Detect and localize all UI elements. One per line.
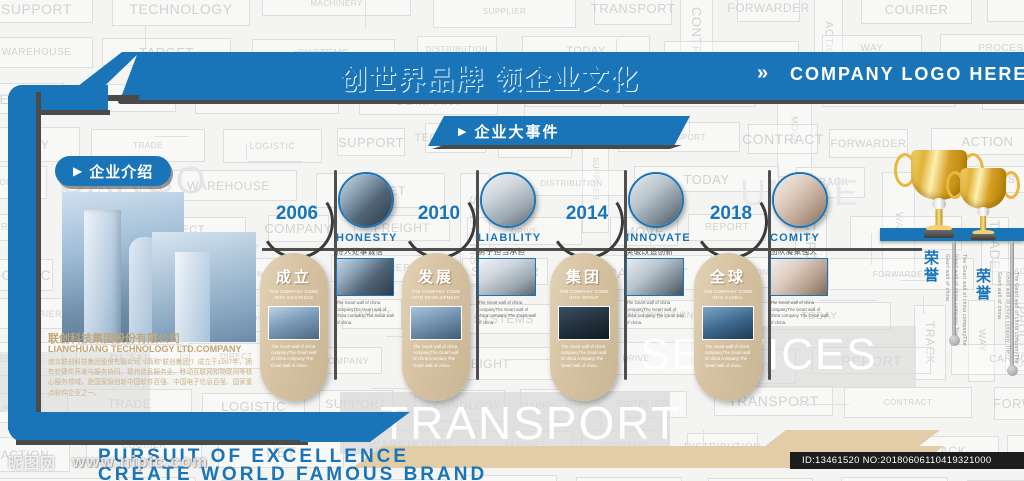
value-detail-block: The Geart wall of china companyThe Geart… [478, 258, 538, 327]
frame-bottom-left-sweep [8, 412, 308, 442]
value-title-cn: 待人处事诚信 [336, 246, 383, 257]
frame-left-arm-shadow [36, 92, 41, 430]
watermark-url: www.nipic.com [72, 452, 208, 472]
value-title-en: LIABILITY [478, 232, 541, 244]
honor-body: The Geart wall of china companyThe Geart… [990, 272, 1020, 368]
bg-connector-line [246, 143, 247, 159]
bg-word: TRANSPORT [594, 0, 672, 25]
milestone-capsule[interactable]: 成立 THE COMPANY COME INTO EXISTENCE The G… [260, 253, 328, 401]
year-label: 2006 [260, 203, 334, 225]
bg-connector-line [365, 1, 366, 28]
play-arrow-icon: ▶ [458, 125, 466, 138]
bg-connector-line [294, 51, 342, 52]
company-intro-paragraph: 南京联创科技集团股份有限公司（简称"联创集团"）成立于1997年，拥有软硬件开发… [48, 358, 254, 399]
value-detail-body: The Geart wall of china companyThe Geart… [478, 300, 538, 327]
value-detail-block: The Geart wall of china companyThe Geart… [336, 258, 396, 327]
building-photo-secondary [152, 232, 256, 342]
trophy-base [971, 234, 996, 241]
watermark-logo: 昵图网 [8, 452, 56, 473]
value-title-cn: 突破改造创新 [626, 246, 673, 257]
value-detail-body: The Geart wall of china companyThe Geart… [626, 300, 686, 327]
value-photo-circle [628, 172, 684, 228]
double-chevron-icon: » [757, 62, 765, 85]
value-title-cn: 勇于担当承担 [478, 246, 525, 257]
year-label: 2010 [402, 203, 476, 225]
bg-word: COURIER [861, 0, 972, 24]
bg-word: LOGISTIC [223, 129, 322, 163]
bg-word: TECHNOLOGY [112, 0, 250, 26]
value-title-cn: 团队凝聚强大 [770, 246, 817, 257]
bg-word: WAREHOUSE [0, 37, 93, 68]
milestone-capsule[interactable]: 集团 THE COMPANY COME INTO GROUP The Geart… [550, 253, 618, 401]
bg-connector-line [703, 430, 704, 447]
value-detail-body: The Geart wall of china companyThe Geart… [336, 300, 396, 327]
intro-badge-label: 企业介绍 [89, 161, 153, 182]
trophy-cup [960, 168, 1006, 209]
year-label: 2014 [550, 203, 624, 225]
value-detail-block: The Geart wall of china companyThe Geart… [770, 258, 830, 327]
intro-badge[interactable]: ▶ 企业介绍 [55, 156, 171, 186]
value-title-en: INNOVATE [626, 232, 691, 244]
bg-word: MACHINERY [262, 0, 411, 16]
bg-connector-line [689, 115, 690, 134]
bg-word: CONTRACT [844, 387, 972, 418]
bg-word: MOVE [841, 477, 948, 481]
value-photo-circle [772, 172, 828, 228]
capsule-title: 集团 [558, 266, 610, 287]
milestone-capsule[interactable]: 全球 THE COMPANY COME INTO GLOBAL The Gear… [694, 253, 762, 401]
value-photo-circle [338, 172, 394, 228]
frame-left-top-shadow [38, 110, 110, 115]
value-title-en: COMITY [770, 232, 820, 244]
capsule-subtitle: THE COMPANY COME INTO GROUP [558, 289, 610, 302]
bg-connector-line [155, 136, 189, 137]
bg-connector-line [145, 25, 146, 48]
capsule-photo [410, 306, 462, 340]
capsule-body: The Geart wall of china companyThe Geart… [702, 344, 754, 370]
value-detail-body: The Geart wall of china companyThe Geart… [770, 300, 830, 327]
company-name-en: LIANCHUANG TECHNOLOGY LTD.COMPANY [48, 344, 242, 354]
timeline-year-2010: 2010 [402, 185, 476, 259]
capsule-body: The Geart wall of china companyThe Geart… [558, 344, 610, 370]
capsule-subtitle: THE COMPANY COME INTO DEVELOPMENT [410, 289, 462, 302]
event-banner-label: 企业大事件 [474, 121, 559, 142]
bg-word: FREIGHT [576, 477, 682, 481]
value-detail-photo [626, 258, 684, 296]
culture-wall-canvas: SUPPORTTECHNOLOGYMACHINERYSUPPLIERTRANSP… [0, 0, 1024, 481]
bg-connector-line [923, 295, 924, 314]
capsule-title: 成立 [268, 266, 320, 287]
bg-word: FORWARDER [737, 0, 800, 22]
value-photo-circle [480, 172, 536, 228]
capsule-title: 全球 [702, 266, 754, 287]
trophy-icon [948, 168, 1019, 247]
capsule-subtitle: THE COMPANY COME INTO GLOBAL [702, 289, 754, 302]
capsule-subtitle: THE COMPANY COME INTO EXISTENCE [268, 289, 320, 302]
bg-word: SUPPORT [337, 128, 405, 156]
value-detail-photo [770, 258, 828, 296]
frame-left-arm [8, 85, 38, 430]
frame-bottom-left-sweep-shadow [16, 440, 308, 445]
play-arrow-icon: ▶ [73, 164, 82, 178]
timeline-year-2014: 2014 [550, 185, 624, 259]
bg-connector-line [247, 161, 302, 162]
company-logo-placeholder: COMPANY LOGO HERE [790, 64, 1024, 85]
timeline-year-2018: 2018 [694, 185, 768, 259]
trophy-knob [978, 207, 989, 217]
bg-bigword-transport: TRANSPORT [380, 396, 681, 450]
id-bar: ID:13461520 NO:20180606110419321000 [790, 452, 1024, 469]
bg-word: CONTRACT [748, 124, 818, 154]
capsule-photo [558, 306, 610, 340]
capsule-title: 发展 [410, 266, 462, 287]
value-detail-photo [336, 258, 394, 296]
bg-word: SUPPLIER [433, 0, 576, 28]
event-banner: ▶ 企业大事件 [428, 116, 690, 146]
bg-word: FORWARDER [994, 387, 1024, 420]
bg-connector-line [793, 404, 849, 405]
timeline-year-2006: 2006 [260, 185, 334, 259]
capsule-body: The Geart wall of china companyThe Geart… [410, 344, 462, 370]
milestone-capsule[interactable]: 发展 THE COMPANY COME INTO DEVELOPMENT The… [402, 253, 470, 401]
value-title-en: HONESTY [336, 232, 398, 244]
capsule-photo [702, 306, 754, 340]
bg-connector-line [372, 388, 407, 389]
capsule-body: The Geart wall of china companyThe Geart… [268, 344, 320, 370]
year-label: 2018 [694, 203, 768, 225]
event-banner-shadow [432, 145, 682, 149]
footer-tan-ribbon-2 [760, 430, 940, 450]
value-detail-photo [478, 258, 536, 296]
honor-body: The Geart wall of china companyThe Geart… [938, 254, 968, 350]
bg-word: NET [987, 0, 1024, 22]
capsule-photo [268, 306, 320, 340]
page-subtitle: THE WAY OF CREATING WORLD BRAND AND CORP… [341, 92, 741, 103]
value-detail-block: The Geart wall of china companyThe Geart… [626, 258, 686, 327]
bg-word: SUPPORT [0, 0, 93, 23]
